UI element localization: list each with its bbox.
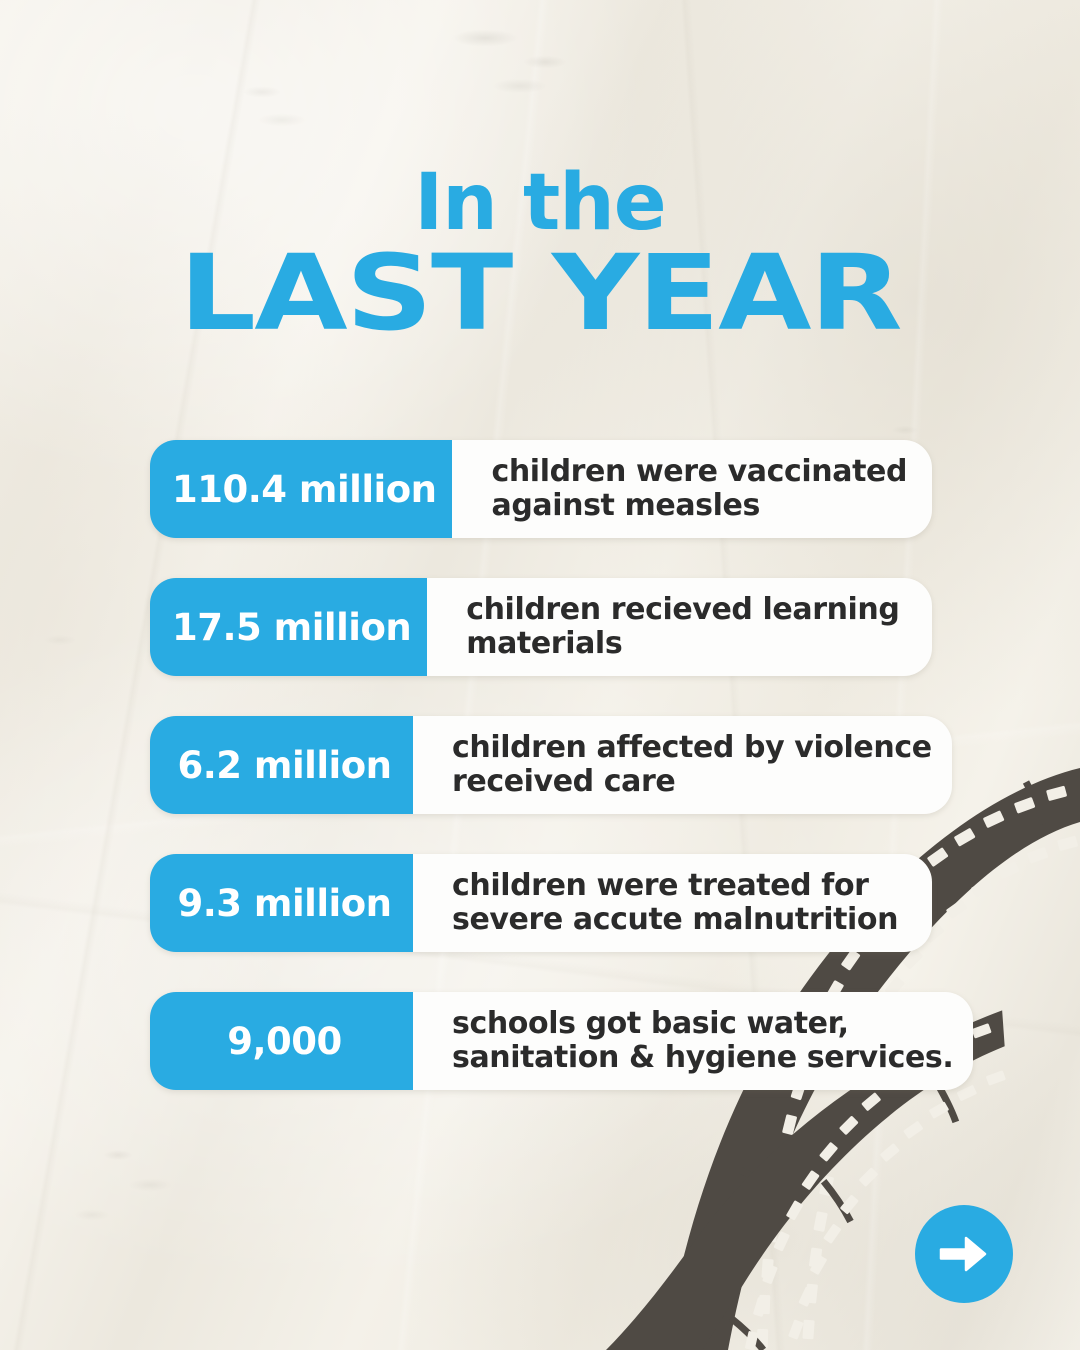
stat-description-panel: children affected by violence received c…	[413, 716, 952, 814]
stat-value: 6.2 million	[178, 744, 392, 787]
stat-row: 9.3 million children were treated for se…	[150, 854, 932, 952]
stat-description-line-1: schools got basic water,	[452, 1007, 953, 1041]
stat-description-line-2: against measles	[491, 489, 912, 523]
stat-value-badge: 110.4 million	[150, 440, 452, 538]
stat-row: 6.2 million children affected by violenc…	[150, 716, 932, 814]
stat-description-panel: children were treated for severe accute …	[413, 854, 932, 952]
stat-description-line-2: received care	[452, 765, 932, 799]
stat-value: 9,000	[227, 1020, 342, 1063]
statistics-list: 110.4 million children were vaccinated a…	[150, 440, 932, 1090]
stat-description-line-2: materials	[466, 627, 912, 661]
next-button[interactable]	[915, 1205, 1013, 1303]
stat-value-badge: 6.2 million	[150, 716, 413, 814]
stat-value: 9.3 million	[178, 882, 392, 925]
stat-row: 9,000 schools got basic water, sanitatio…	[150, 992, 932, 1090]
title-line-in-the: In the	[0, 168, 1080, 240]
arrow-right-icon	[935, 1225, 993, 1283]
stat-description-panel: schools got basic water, sanitation & hy…	[413, 992, 973, 1090]
stat-description-line-1: children were treated for	[452, 869, 912, 903]
stat-description-line-1: children affected by violence	[452, 731, 932, 765]
stat-description-line-1: children recieved learning	[466, 593, 912, 627]
stat-description-panel: children recieved learning materials	[427, 578, 932, 676]
title-line-last-year: LAST YEAR	[0, 244, 1080, 343]
stat-value: 110.4 million	[172, 468, 436, 511]
stat-value-badge: 9.3 million	[150, 854, 413, 952]
stat-value-badge: 9,000	[150, 992, 413, 1090]
stat-value-badge: 17.5 million	[150, 578, 427, 676]
stat-row: 110.4 million children were vaccinated a…	[150, 440, 932, 538]
stat-description-line-2: severe accute malnutrition	[452, 903, 912, 937]
stat-description-line-1: children were vaccinated	[491, 455, 912, 489]
stat-description-line-2: sanitation & hygiene services.	[452, 1041, 953, 1075]
stat-row: 17.5 million children recieved learning …	[150, 578, 932, 676]
stat-description-panel: children were vaccinated against measles	[452, 440, 932, 538]
page-title: In the LAST YEAR	[0, 168, 1080, 343]
stat-value: 17.5 million	[172, 606, 411, 649]
infographic-poster: In the LAST YEAR 110.4 million children …	[0, 0, 1080, 1350]
